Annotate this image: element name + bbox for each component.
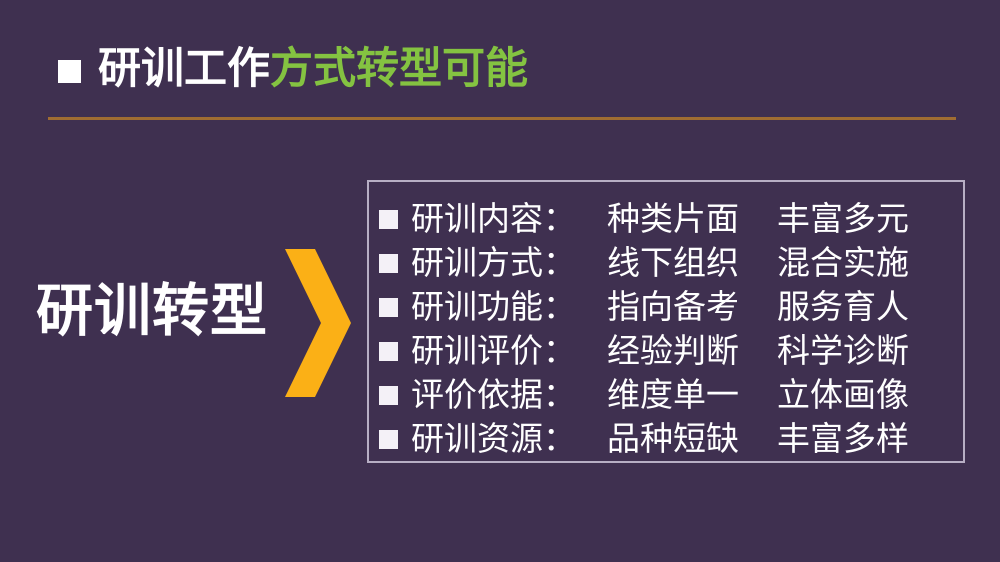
row-label: 研训方式： — [411, 246, 607, 279]
row-from-state: 品种短缺 — [607, 422, 777, 455]
row-to-state: 丰富多样 — [777, 422, 909, 455]
table-row: 研训功能： 指向备考 服务育人 — [369, 284, 963, 328]
row-label: 研训评价： — [411, 334, 607, 367]
page-title: 研训工作方式转型可能 — [98, 48, 528, 91]
transformation-label: 研训转型 — [36, 283, 268, 340]
square-bullet-icon — [379, 430, 398, 449]
table-row: 研训评价： 经验判断 科学诊断 — [369, 328, 963, 372]
row-label: 研训内容： — [411, 202, 607, 235]
square-bullet-icon — [379, 386, 398, 405]
chevron-right-arrow-icon — [282, 247, 354, 399]
table-row: 评价依据： 维度单一 立体画像 — [369, 372, 963, 416]
square-bullet-icon — [379, 342, 398, 361]
row-to-state: 丰富多元 — [777, 202, 909, 235]
slide-title: 研训工作方式转型可能 — [58, 40, 528, 98]
transformation-table: 研训内容： 种类片面 丰富多元 研训方式： 线下组织 混合实施 研训功能： 指向… — [367, 180, 965, 463]
transformation-rows: 研训内容： 种类片面 丰富多元 研训方式： 线下组织 混合实施 研训功能： 指向… — [369, 192, 963, 465]
table-row: 研训内容： 种类片面 丰富多元 — [369, 196, 963, 240]
row-to-state: 服务育人 — [777, 290, 909, 323]
row-from-state: 指向备考 — [607, 290, 777, 323]
square-bullet-icon — [379, 254, 398, 273]
title-text-white: 研训工作 — [98, 45, 270, 93]
slide-canvas: 研训工作方式转型可能 研训转型 研训内容： 种类片面 丰富多元 研训方式： 线下… — [0, 0, 1000, 562]
row-to-state: 混合实施 — [777, 246, 909, 279]
row-label: 评价依据： — [411, 378, 607, 411]
row-label: 研训资源： — [411, 422, 607, 455]
title-divider — [48, 117, 956, 120]
square-bullet-icon — [379, 298, 398, 317]
row-from-state: 线下组织 — [607, 246, 777, 279]
table-row: 研训方式： 线下组织 混合实施 — [369, 240, 963, 284]
row-from-state: 经验判断 — [607, 334, 777, 367]
title-text-green: 方式转型可能 — [270, 45, 528, 93]
square-bullet-icon — [58, 60, 81, 83]
row-from-state: 维度单一 — [607, 378, 777, 411]
row-to-state: 科学诊断 — [777, 334, 909, 367]
row-from-state: 种类片面 — [607, 202, 777, 235]
row-label: 研训功能： — [411, 290, 607, 323]
table-row: 研训资源： 品种短缺 丰富多样 — [369, 416, 963, 460]
square-bullet-icon — [379, 210, 398, 229]
row-to-state: 立体画像 — [777, 378, 909, 411]
